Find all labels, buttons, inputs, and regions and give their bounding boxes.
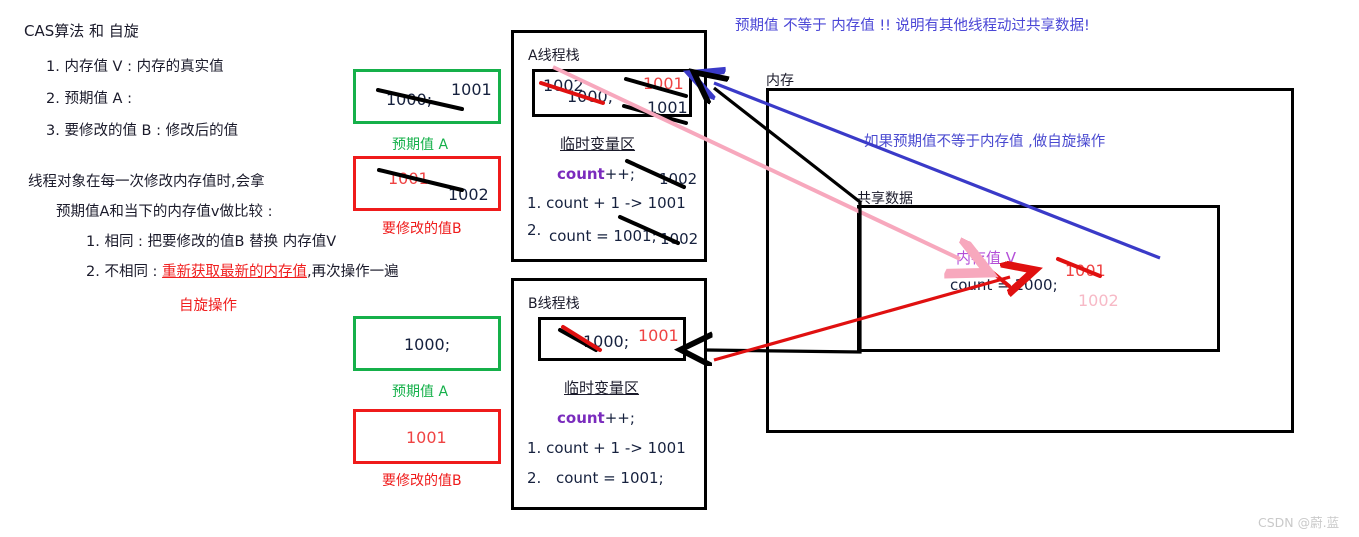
thread-stack-b-code-count: count++; (557, 409, 635, 427)
thread-stack-b-line-2-index: 2. (527, 469, 541, 487)
expected-value-box-b: 1000; (353, 316, 501, 371)
thread-stack-a-header: A线程栈 (528, 45, 580, 65)
note-item-2: 2. 预期值 A : (46, 87, 344, 108)
thread-stack-b-line-2: count = 1001; (556, 469, 664, 487)
memory-value-label: 内存值 V (956, 247, 1016, 268)
note-spin-label: 自旋操作 (179, 294, 344, 315)
thread-stack-a-temp-label: 临时变量区 (560, 133, 635, 154)
new-value-box-b: 1001 (353, 409, 501, 464)
thread-stack-a-line-2-side: 1002 (660, 230, 698, 248)
thread-stack-b-line-1: 1. count + 1 -> 1001 (527, 439, 686, 457)
thread-stack-b-header: B线程栈 (528, 293, 580, 313)
expected-value-a-caption: 预期值 A (392, 134, 448, 154)
thread-stack-a-slot: 1002 1000; 1001 1001 (532, 69, 692, 117)
new-value-b-caption: 要修改的值B (382, 470, 462, 490)
thread-stack-a-code-count: count++; (557, 165, 635, 183)
new-value-a-caption: 要修改的值B (382, 218, 462, 238)
note-item-1: 1. 内存值 V : 内存的真实值 (46, 55, 344, 76)
memory-count-line: count = 1000; (950, 276, 1058, 294)
new-value-a-struck: 1001 (388, 169, 429, 188)
new-value-b: 1001 (406, 428, 447, 447)
slot-a-struck-red: 1001 (643, 74, 684, 93)
new-value-a-new: 1002 (448, 185, 489, 204)
memory-value-red: 1001 (1065, 261, 1106, 280)
note-rule-2-prefix: 2. 不相同 : (86, 264, 162, 280)
note-paragraph-2: 预期值A和当下的内存值v做比较 : (56, 200, 344, 221)
keyword-count: count (557, 409, 605, 427)
memory-inner-note: 如果预期值不等于内存值 ,做自旋操作 (864, 130, 1105, 151)
keyword-count-tail: ++; (605, 409, 635, 427)
expected-value-a-new: 1001 (451, 80, 492, 99)
expected-value-box-a: 1000; 1001 (353, 69, 501, 124)
thread-stack-a-line-2-index: 2. (527, 221, 541, 239)
thread-stack-a-line-1: 1. count + 1 -> 1001 (527, 194, 686, 212)
slot-a-struck-black: 1000; (567, 87, 613, 106)
new-value-box-a: 1001 1002 (353, 156, 501, 211)
memory-value-pink: 1002 (1078, 291, 1119, 310)
note-item-3: 3. 要修改的值 B : 修改后的值 (46, 119, 344, 140)
memory-label: 内存 (766, 70, 794, 90)
expected-value-b: 1000; (404, 335, 450, 354)
thread-stack-a-line-2: count = 1001; (549, 227, 657, 245)
note-paragraph-1: 线程对象在每一次修改内存值时,会拿 (28, 170, 344, 191)
thread-stack-a-code-count-side: 1002 (659, 170, 697, 188)
expected-value-b-caption: 预期值 A (392, 381, 448, 401)
thread-stack-b-slot: 1000; 1001 (538, 317, 686, 361)
note-rule-2-highlight: 重新获取最新的内存值 (162, 264, 307, 280)
thread-stack-b: B线程栈 1000; 1001 临时变量区 count++; 1. count … (511, 278, 707, 510)
keyword-count: count (557, 165, 605, 183)
banner-text: 预期值 不等于 内存值 !! 说明有其他线程动过共享数据! (735, 14, 1090, 35)
note-rule-2: 2. 不相同 : 重新获取最新的内存值,再次操作一遍 (86, 260, 344, 281)
expected-value-a-struck: 1000; (386, 90, 432, 109)
watermark: CSDN @蔚.蓝 (1258, 512, 1339, 531)
page-title: CAS算法 和 自旋 (24, 20, 344, 41)
shared-data-box: 内存值 V count = 1000; 1001 1002 (857, 205, 1220, 352)
thread-stack-a: A线程栈 1002 1000; 1001 1001 临时变量区 count++;… (511, 30, 707, 262)
slot-b-value-red: 1001 (638, 326, 679, 345)
note-rule-2-suffix: ,再次操作一遍 (307, 264, 399, 280)
keyword-count-tail: ++; (605, 165, 635, 183)
slot-b-struck-black: 1000; (583, 332, 629, 351)
slot-a-struck-black-2: 1001 (647, 98, 688, 117)
thread-stack-b-temp-label: 临时变量区 (564, 377, 639, 398)
notes-panel: CAS算法 和 自旋 1. 内存值 V : 内存的真实值 2. 预期值 A : … (24, 20, 344, 315)
note-rule-1: 1. 相同 : 把要修改的值B 替换 内存值V (86, 230, 344, 251)
